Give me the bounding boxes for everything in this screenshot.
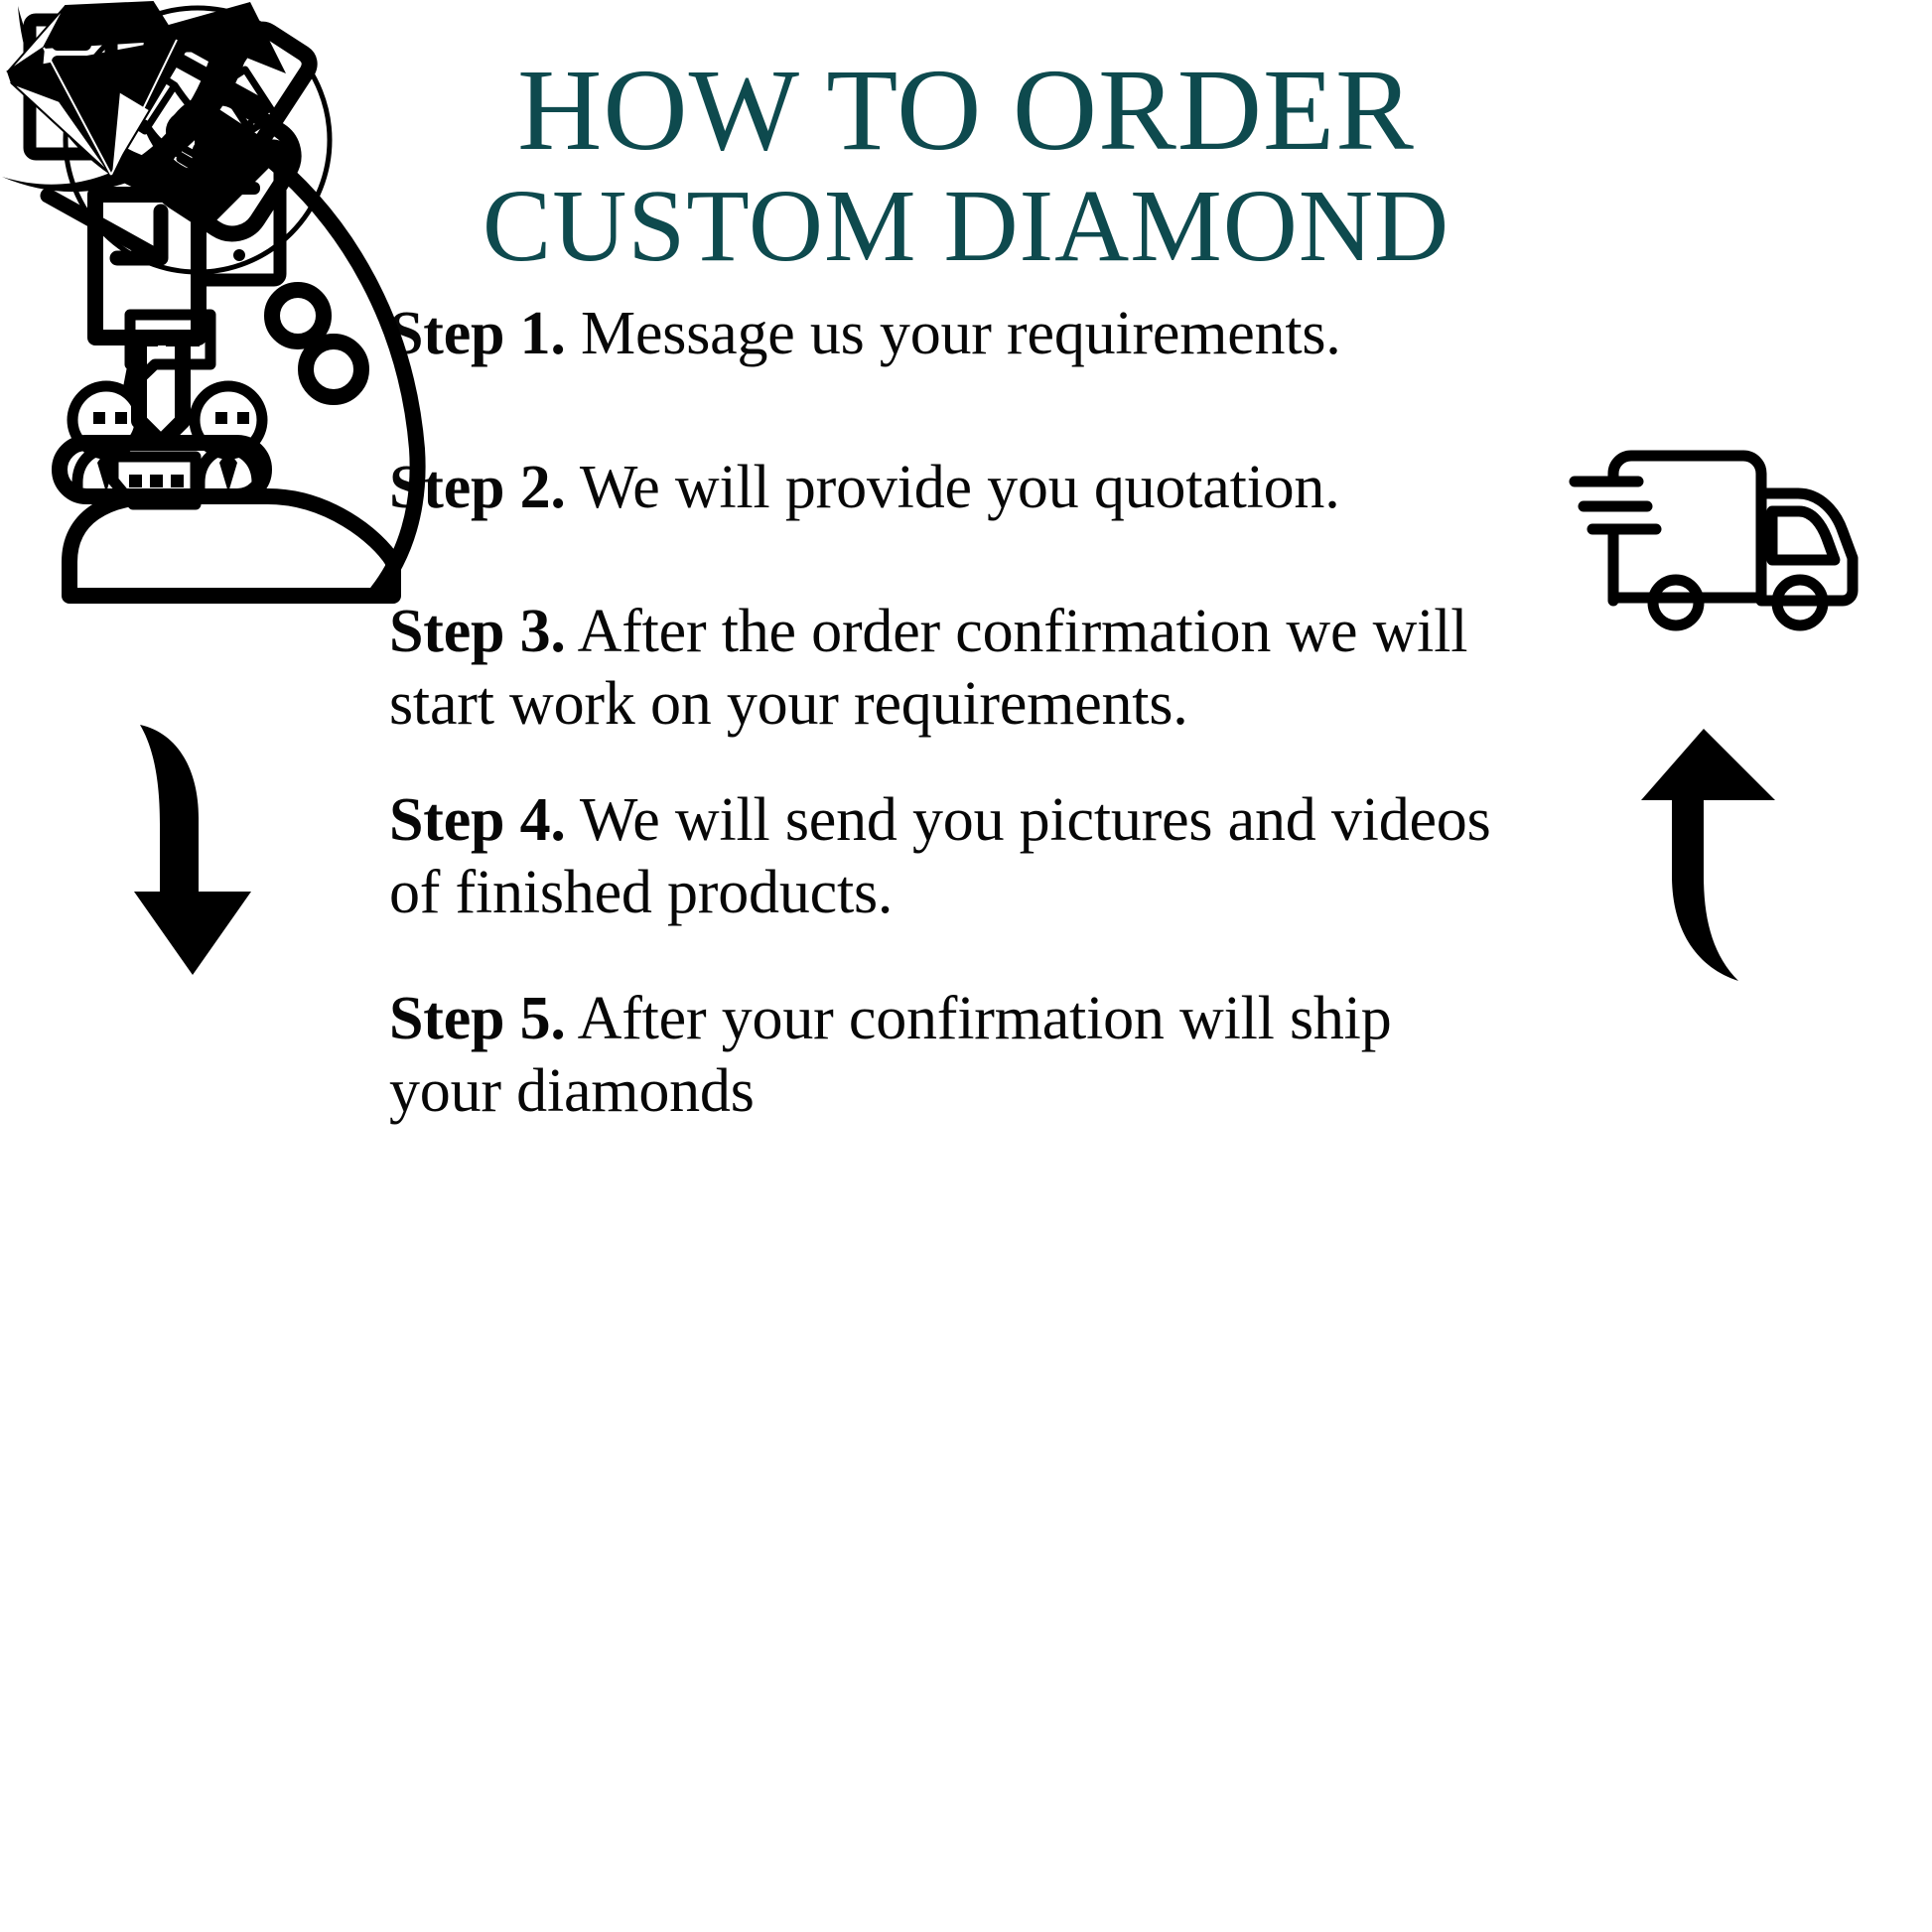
delivery-truck-icon (1567, 437, 1864, 635)
step-item-1: Step 1. Message us your requirements. (389, 298, 1561, 370)
step-item-5: Step 5. After your confirmation will shi… (389, 983, 1451, 1128)
step-item-2: Step 2. We will provide you quotation. (389, 452, 1561, 524)
step-label-5: Step 5. (389, 985, 566, 1052)
step-item-3: Step 3. After the order confirmation we … (389, 596, 1541, 741)
step-text-1: Message us your requirements. (566, 300, 1341, 367)
arrow-down-icon (107, 701, 278, 991)
step-item-4: Step 4. We will send you pictures and vi… (389, 784, 1521, 929)
step-label-4: Step 4. (389, 786, 566, 854)
step-text-2: We will provide you quotation. (566, 454, 1340, 521)
diamond-icon (0, 0, 218, 189)
arrow-up-icon (1636, 721, 1817, 1001)
